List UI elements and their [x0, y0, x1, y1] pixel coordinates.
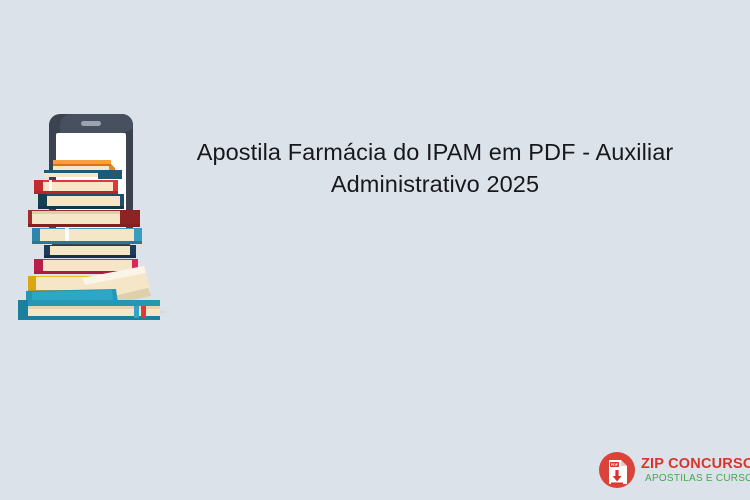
book-layer-navy — [38, 194, 124, 209]
svg-text:PDF: PDF — [611, 463, 619, 467]
book-layer-darkred — [28, 210, 140, 227]
brand-tagline: APOSTILAS E CURSOS — [641, 472, 750, 485]
brand-name: ZIP CONCURSOS — [641, 456, 750, 472]
promo-banner: Apostila Farmácia do IPAM em PDF - Auxil… — [0, 0, 750, 500]
pdf-download-circle-icon: PDF — [598, 451, 636, 489]
book-layer-base — [18, 300, 160, 320]
page-title: Apostila Farmácia do IPAM em PDF - Auxil… — [185, 136, 685, 200]
book-layer-red — [34, 180, 118, 194]
page-title-text: Apostila Farmácia do IPAM em PDF - Auxil… — [185, 136, 685, 200]
book-stack-illustration — [8, 110, 178, 322]
book-layer-midnight — [44, 245, 136, 258]
brand-logo[interactable]: PDF ZIP CONCURSOS APOSTILAS E CURSOS — [598, 449, 746, 491]
book-layer-blue — [32, 228, 142, 244]
brand-wordmark: ZIP CONCURSOS APOSTILAS E CURSOS — [641, 456, 750, 485]
